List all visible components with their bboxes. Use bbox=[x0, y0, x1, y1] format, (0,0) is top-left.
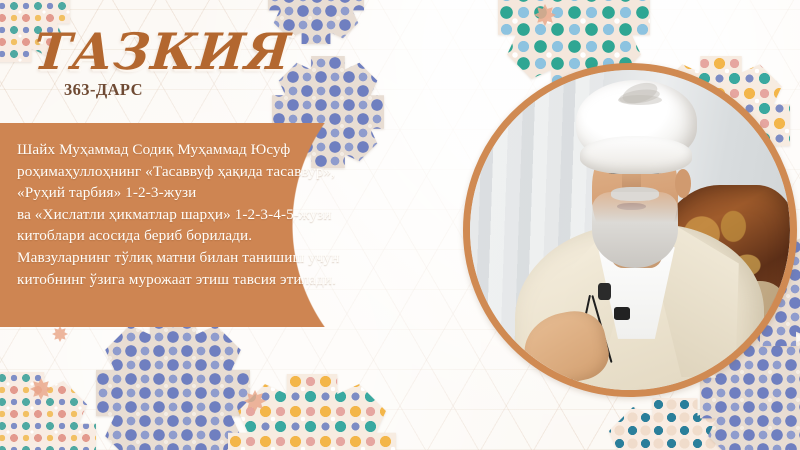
description-line: ва «Хислатли ҳикматлар шарҳи» 1-2-3-4-5-… bbox=[17, 204, 449, 226]
medallion-pastel-bottom-left bbox=[0, 372, 96, 450]
figure-turban bbox=[576, 80, 698, 163]
lesson-poster: Шайх Муҳаммад Содиқ Муҳаммад Юсуф роҳима… bbox=[0, 0, 800, 450]
figure-beard bbox=[592, 192, 678, 269]
medallion-warm-bottom-center bbox=[228, 374, 396, 450]
figure-ear bbox=[675, 169, 691, 198]
lapel-microphone bbox=[598, 283, 611, 300]
description-line: китоблари асосида бериб борилади. bbox=[17, 225, 449, 247]
microphone-clip bbox=[614, 307, 630, 320]
description-line: Мавзуларнинг тўлиқ матни билан танишиш у… bbox=[17, 247, 449, 269]
description-text: Шайх Муҳаммад Содиқ Муҳаммад Юсуф роҳима… bbox=[17, 139, 449, 290]
medallion-blue-bottom-left bbox=[96, 316, 250, 450]
description-line: китобнинг ўзига мурожаат этиш тавсия эти… bbox=[17, 269, 449, 291]
description-line: роҳимаҳуллоҳнинг «Тасаввуф ҳақида тасавв… bbox=[17, 161, 449, 183]
page-title: ТАЗКИЯ bbox=[32, 26, 293, 78]
lesson-number: 363-ДАРС bbox=[64, 80, 291, 100]
description-line: «Руҳий тарбия» 1-2-3-жузи bbox=[17, 182, 449, 204]
description-line: Шайх Муҳаммад Содиқ Муҳаммад Юсуф bbox=[17, 139, 449, 161]
brand-block: ТАЗКИЯ 363-ДАРС bbox=[34, 26, 291, 100]
